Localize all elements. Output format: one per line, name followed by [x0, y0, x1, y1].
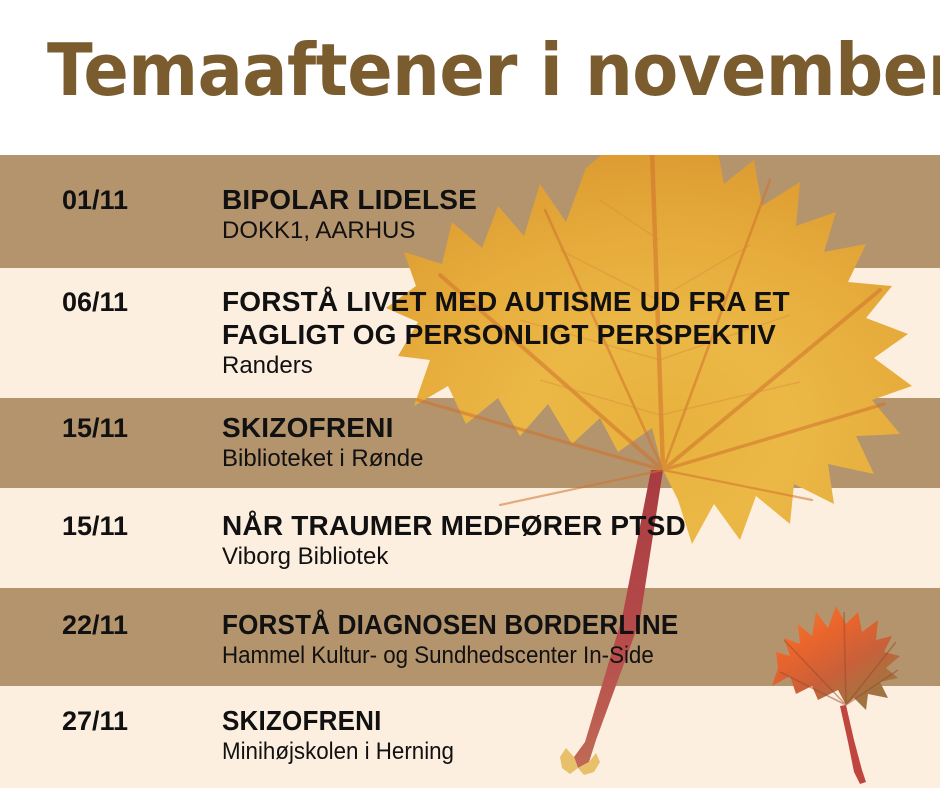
event-title: FORSTÅ DIAGNOSEN BORDERLINE — [222, 608, 678, 641]
poster-header: Temaaftener i november — [0, 0, 940, 155]
event-date: 06/11 — [62, 287, 128, 317]
event-body: SKIZOFRENI Biblioteket i Rønde — [222, 411, 423, 473]
event-venue: Randers — [222, 351, 790, 380]
event-venue: Biblioteket i Rønde — [222, 444, 423, 473]
event-title: NÅR TRAUMER MEDFØRER PTSD — [222, 509, 686, 542]
event-venue: DOKK1, AARHUS — [222, 216, 477, 245]
list-item[interactable]: 27/11 SKIZOFRENI Minihøjskolen i Herning — [0, 686, 940, 788]
event-date: 27/11 — [62, 706, 128, 736]
list-item[interactable]: 06/11 FORSTÅ LIVET MED AUTISME UD FRA ET… — [0, 268, 940, 398]
event-body: BIPOLAR LIDELSE DOKK1, AARHUS — [222, 183, 477, 245]
event-venue: Viborg Bibliotek — [222, 542, 686, 571]
list-item[interactable]: 15/11 SKIZOFRENI Biblioteket i Rønde — [0, 398, 940, 488]
event-date: 22/11 — [62, 610, 128, 640]
event-body: NÅR TRAUMER MEDFØRER PTSD Viborg Bibliot… — [222, 509, 686, 571]
list-item[interactable]: 01/11 BIPOLAR LIDELSE DOKK1, AARHUS — [0, 155, 940, 268]
event-title: SKIZOFRENI — [222, 411, 423, 444]
event-venue: Hammel Kultur- og Sundhedscenter In-Side — [222, 641, 678, 670]
event-body: FORSTÅ LIVET MED AUTISME UD FRA ET FAGLI… — [222, 285, 790, 380]
poster-canvas: Temaaftener i november 01/11 BIPOLAR LID… — [0, 0, 940, 788]
page-title: Temaaftener i november — [47, 28, 940, 112]
event-title: FORSTÅ LIVET MED AUTISME UD FRA ET — [222, 285, 790, 318]
event-date: 01/11 — [62, 185, 128, 215]
event-date: 15/11 — [62, 413, 128, 443]
event-title-line2: FAGLIGT OG PERSONLIGT PERSPEKTIV — [222, 318, 790, 351]
event-date: 15/11 — [62, 511, 128, 541]
event-title: SKIZOFRENI — [222, 704, 454, 737]
list-item[interactable]: 15/11 NÅR TRAUMER MEDFØRER PTSD Viborg B… — [0, 488, 940, 588]
event-body: SKIZOFRENI Minihøjskolen i Herning — [222, 704, 471, 766]
event-body: FORSTÅ DIAGNOSEN BORDERLINE Hammel Kultu… — [222, 608, 713, 670]
list-item[interactable]: 22/11 FORSTÅ DIAGNOSEN BORDERLINE Hammel… — [0, 588, 940, 686]
event-title: BIPOLAR LIDELSE — [222, 183, 477, 216]
event-venue: Minihøjskolen i Herning — [222, 737, 454, 766]
